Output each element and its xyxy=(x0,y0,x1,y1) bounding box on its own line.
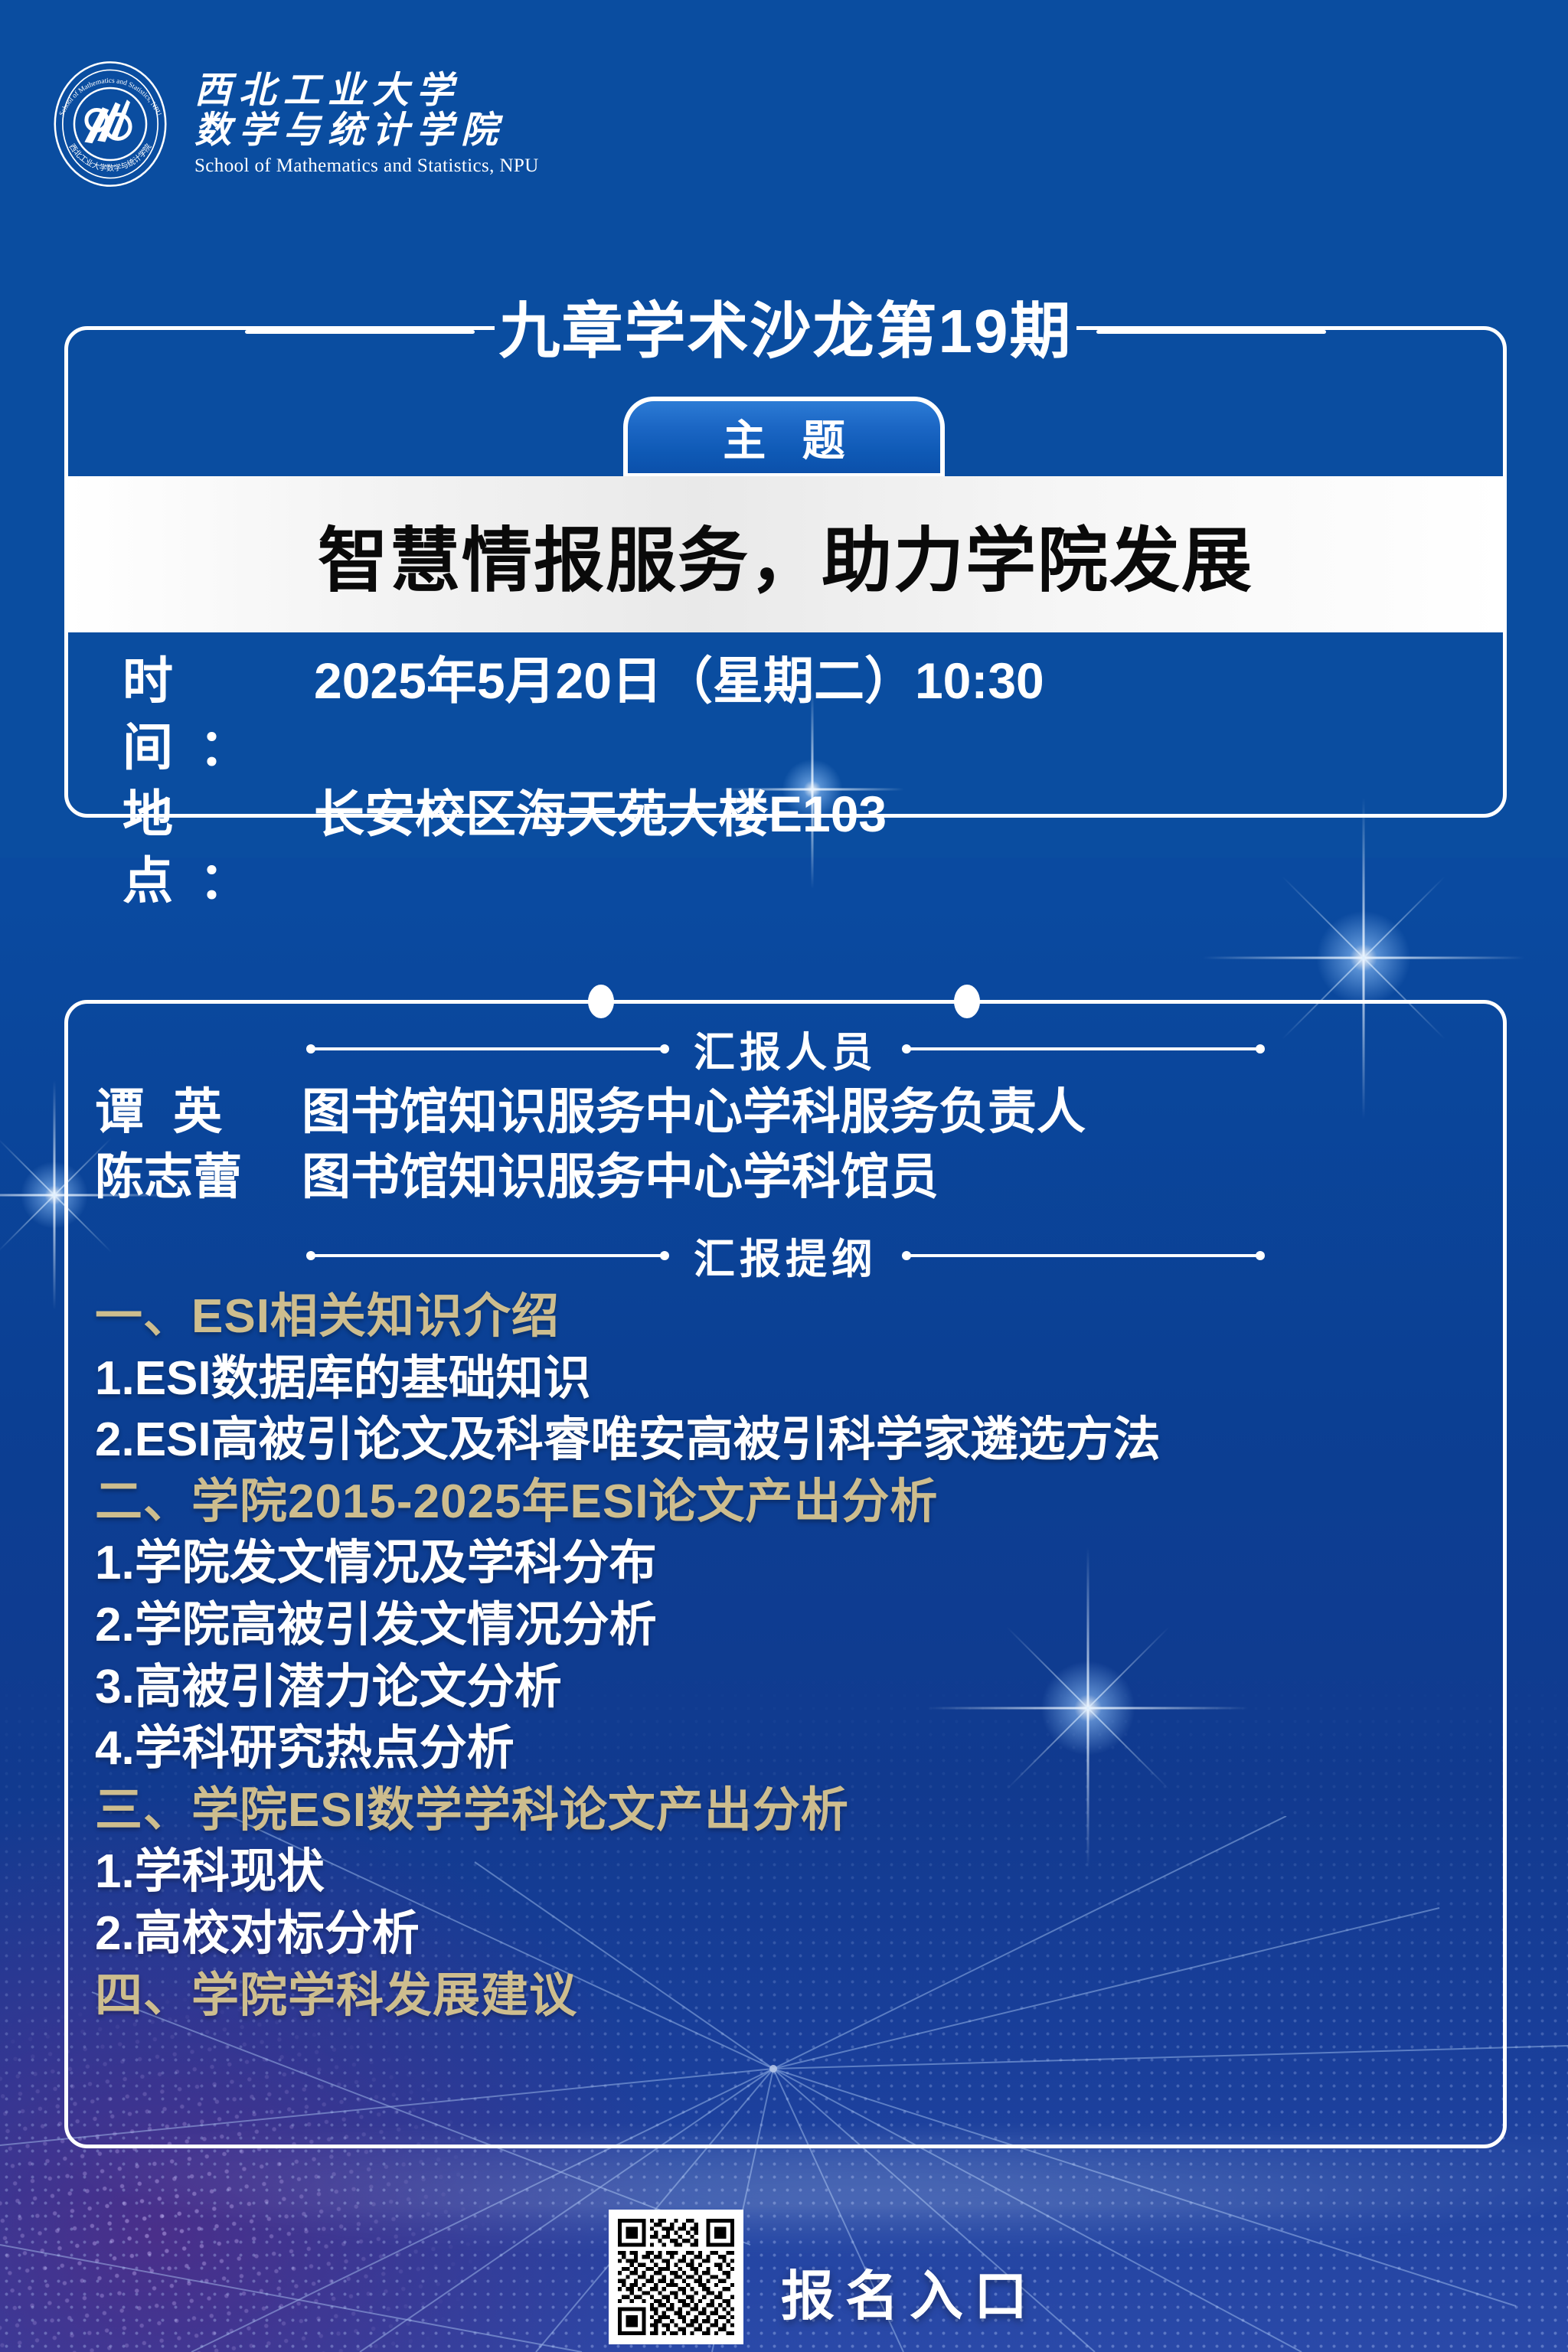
topic-badge-label: 主 题 xyxy=(623,397,945,478)
list-item: 1.ESI数据库的基础知识 xyxy=(95,1348,1534,1410)
org-school-name: 数学与统计学院 xyxy=(194,111,539,151)
event-place-label: 地 点： xyxy=(122,781,314,914)
list-item: 3.高被引潜力论文分析 xyxy=(95,1657,1534,1719)
poster-root: School of Mathematics and Statistics, NP… xyxy=(0,0,1568,2352)
svg-text:School of Mathematics and Stat: School of Mathematics and Statistics, NP… xyxy=(57,77,163,117)
speakers-list: 谭英 图书馆知识服务中心学科服务负责人 陈志蕾 图书馆知识服务中心学科馆员 xyxy=(95,1080,1488,1210)
org-university-name: 西北工业大学 xyxy=(194,71,539,111)
list-item: 三、学院ESI数学学科论文产出分析 xyxy=(95,1780,1534,1842)
outline-list: 一、ESI相关知识介绍 1.ESI数据库的基础知识 2.ESI高被引论文及科睿唯… xyxy=(95,1286,1534,2027)
list-item: 一、ESI相关知识介绍 xyxy=(95,1286,1534,1348)
section-rule-right xyxy=(903,1047,1263,1050)
list-item: 二、学院2015-2025年ESI论文产出分析 xyxy=(95,1472,1534,1534)
speakers-section-title: 汇报人员 xyxy=(694,1018,877,1079)
list-item: 1.学科现状 xyxy=(95,1841,1534,1903)
list-item: 2.学院高被引发文情况分析 xyxy=(95,1595,1534,1657)
speaker-role: 图书馆知识服务中心学科馆员 xyxy=(302,1145,939,1210)
section-rule-left xyxy=(308,1047,668,1050)
frame-knob-right xyxy=(954,985,980,1018)
outline-section-header: 汇报提纲 xyxy=(64,1225,1507,1285)
list-item: 1.学院发文情况及学科分布 xyxy=(95,1533,1534,1595)
header-branding: School of Mathematics and Statistics, NP… xyxy=(46,60,539,188)
event-place-value: 长安校区海天苑大楼E103 xyxy=(314,781,887,848)
signup-entry-label[interactable]: 报名入口 xyxy=(781,2253,1038,2331)
list-item: 2.ESI高被引论文及科睿唯安高被引科学家遴选方法 xyxy=(95,1410,1534,1472)
event-time-label: 时 间： xyxy=(122,648,314,781)
speaker-name: 谭英 xyxy=(95,1080,302,1145)
footer: 报名入口 xyxy=(0,2199,1568,2352)
list-item: 4.学科研究热点分析 xyxy=(95,1718,1534,1780)
qr-code-icon[interactable] xyxy=(609,2210,743,2344)
event-place-row: 地 点： 长安校区海天苑大楼E103 xyxy=(122,781,1424,914)
header-org-names: 西北工业大学 数学与统计学院 School of Mathematics and… xyxy=(194,71,539,177)
theme-band: 智慧情报服务，助力学院发展 xyxy=(68,476,1503,632)
title-rule-left xyxy=(245,330,475,334)
speaker-role: 图书馆知识服务中心学科服务负责人 xyxy=(302,1080,1086,1145)
event-time-value: 2025年5月20日（星期二）10:30 xyxy=(314,648,1044,714)
topic-badge: 主 题 xyxy=(623,397,945,478)
npu-school-emblem-icon: School of Mathematics and Statistics, NP… xyxy=(46,60,175,188)
page-title: 九章学术沙龙第19期 xyxy=(495,301,1077,362)
list-item: 陈志蕾 图书馆知识服务中心学科馆员 xyxy=(95,1145,1488,1210)
list-item: 2.高校对标分析 xyxy=(95,1903,1534,1965)
event-meta: 时 间： 2025年5月20日（星期二）10:30 地 点： 长安校区海天苑大楼… xyxy=(122,648,1424,914)
frame-knob-left xyxy=(588,985,614,1018)
speakers-section-header: 汇报人员 xyxy=(64,1018,1507,1079)
outline-section-title: 汇报提纲 xyxy=(694,1225,877,1285)
svg-text:西北工业大学数学与统计学院: 西北工业大学数学与统计学院 xyxy=(67,142,154,173)
section-rule-left xyxy=(308,1254,668,1257)
list-item: 四、学院学科发展建议 xyxy=(95,1965,1534,2027)
list-item: 谭英 图书馆知识服务中心学科服务负责人 xyxy=(95,1080,1488,1145)
title-rule-right xyxy=(1096,330,1326,334)
section-rule-right xyxy=(903,1254,1263,1257)
org-english-name: School of Mathematics and Statistics, NP… xyxy=(194,155,539,177)
speaker-name: 陈志蕾 xyxy=(95,1145,302,1210)
event-time-row: 时 间： 2025年5月20日（星期二）10:30 xyxy=(122,648,1424,781)
theme-title: 智慧情报服务，助力学院发展 xyxy=(318,504,1253,606)
main-title-row: 九章学术沙龙第19期 xyxy=(64,289,1507,374)
